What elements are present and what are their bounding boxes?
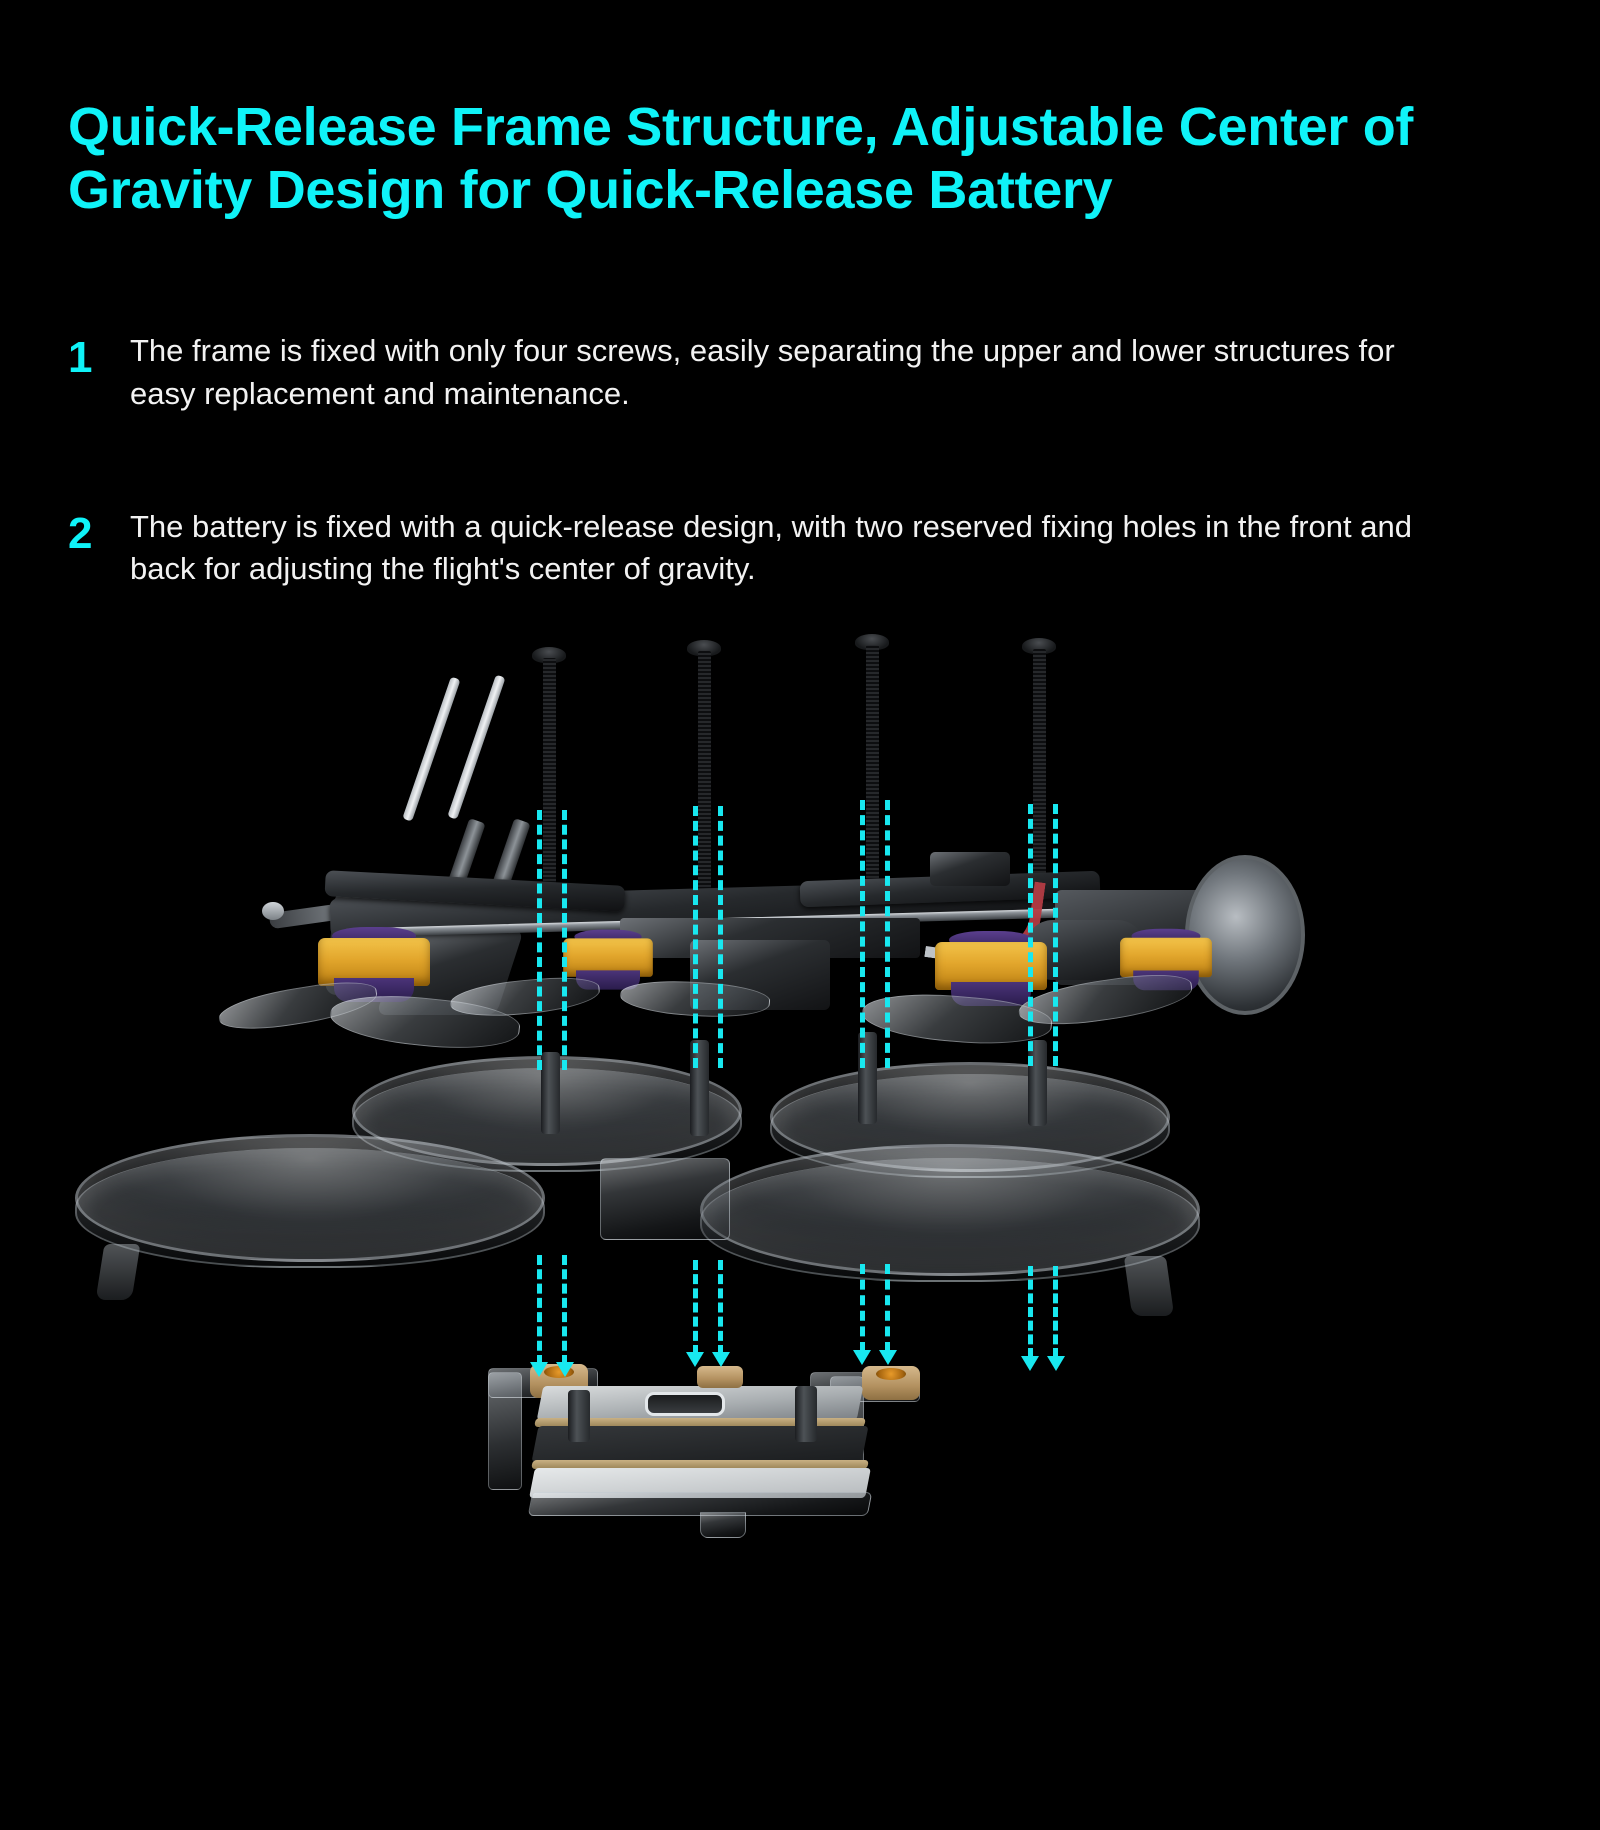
wire-connector bbox=[930, 852, 1010, 886]
landing-foot bbox=[1124, 1256, 1174, 1316]
alignment-guide-3 bbox=[885, 1264, 890, 1352]
alignment-guide-2 bbox=[693, 806, 698, 1068]
vtx-antenna-right-tip bbox=[447, 675, 505, 820]
page-title: Quick-Release Frame Structure, Adjustabl… bbox=[68, 96, 1568, 221]
alignment-arrow-3 bbox=[853, 1350, 871, 1365]
alignment-guide-2 bbox=[693, 1260, 698, 1355]
alignment-arrow-3 bbox=[879, 1350, 897, 1365]
alignment-arrow-1 bbox=[556, 1362, 574, 1377]
feature-list: 1 The frame is fixed with only four scre… bbox=[68, 330, 1528, 681]
feature-number: 2 bbox=[68, 506, 130, 556]
feature-number: 1 bbox=[68, 330, 130, 380]
alignment-guide-2 bbox=[718, 806, 723, 1068]
alignment-guide-4 bbox=[1028, 1266, 1033, 1358]
mounting-screw-2 bbox=[698, 651, 711, 901]
alignment-guide-3 bbox=[885, 800, 890, 1068]
alignment-guide-2 bbox=[718, 1260, 723, 1355]
flight-controller-stack bbox=[0, 1360, 1600, 1610]
alignment-guide-4 bbox=[1028, 804, 1033, 1066]
landing-foot bbox=[96, 1244, 141, 1300]
mounting-screw-3 bbox=[866, 645, 879, 900]
alignment-guide-1 bbox=[562, 810, 567, 1070]
brass-standoff bbox=[697, 1366, 743, 1388]
duct-center-bridge bbox=[600, 1158, 730, 1240]
alignment-guide-4 bbox=[1053, 1266, 1058, 1358]
feature-description: The battery is fixed with a quick-releas… bbox=[130, 506, 1460, 592]
fixing-hole bbox=[876, 1368, 906, 1380]
standoff-post bbox=[541, 1052, 560, 1134]
upper-assembly bbox=[0, 660, 1600, 1100]
duct-front-left bbox=[75, 1134, 545, 1262]
alignment-guide-1 bbox=[562, 1255, 567, 1365]
standoff-post bbox=[795, 1386, 817, 1442]
mounting-screw-1 bbox=[543, 658, 556, 903]
alignment-arrow-2 bbox=[712, 1352, 730, 1367]
alignment-arrow-1 bbox=[530, 1362, 548, 1377]
feature-description: The frame is fixed with only four screws… bbox=[130, 330, 1460, 416]
receiver-antenna-tip bbox=[262, 902, 284, 920]
alignment-guide-3 bbox=[860, 800, 865, 1068]
ducted-guard-frame bbox=[0, 1060, 1600, 1310]
battery-mount-foot bbox=[700, 1512, 746, 1538]
alignment-guide-1 bbox=[537, 1255, 542, 1365]
alignment-arrow-4 bbox=[1021, 1356, 1039, 1371]
duct-front-right bbox=[700, 1144, 1200, 1276]
usb-c-port bbox=[645, 1392, 725, 1416]
exploded-diagram bbox=[0, 660, 1600, 1830]
standoff-post bbox=[568, 1390, 590, 1442]
list-item: 1 The frame is fixed with only four scre… bbox=[68, 330, 1528, 416]
mounting-screw-4 bbox=[1033, 649, 1046, 899]
alignment-guide-1 bbox=[537, 810, 542, 1070]
alignment-guide-4 bbox=[1053, 804, 1058, 1066]
list-item: 2 The battery is fixed with a quick-rele… bbox=[68, 506, 1528, 592]
alignment-arrow-2 bbox=[686, 1352, 704, 1367]
alignment-guide-3 bbox=[860, 1264, 865, 1352]
alignment-arrow-4 bbox=[1047, 1356, 1065, 1371]
fpv-camera-lens bbox=[1185, 855, 1305, 1015]
